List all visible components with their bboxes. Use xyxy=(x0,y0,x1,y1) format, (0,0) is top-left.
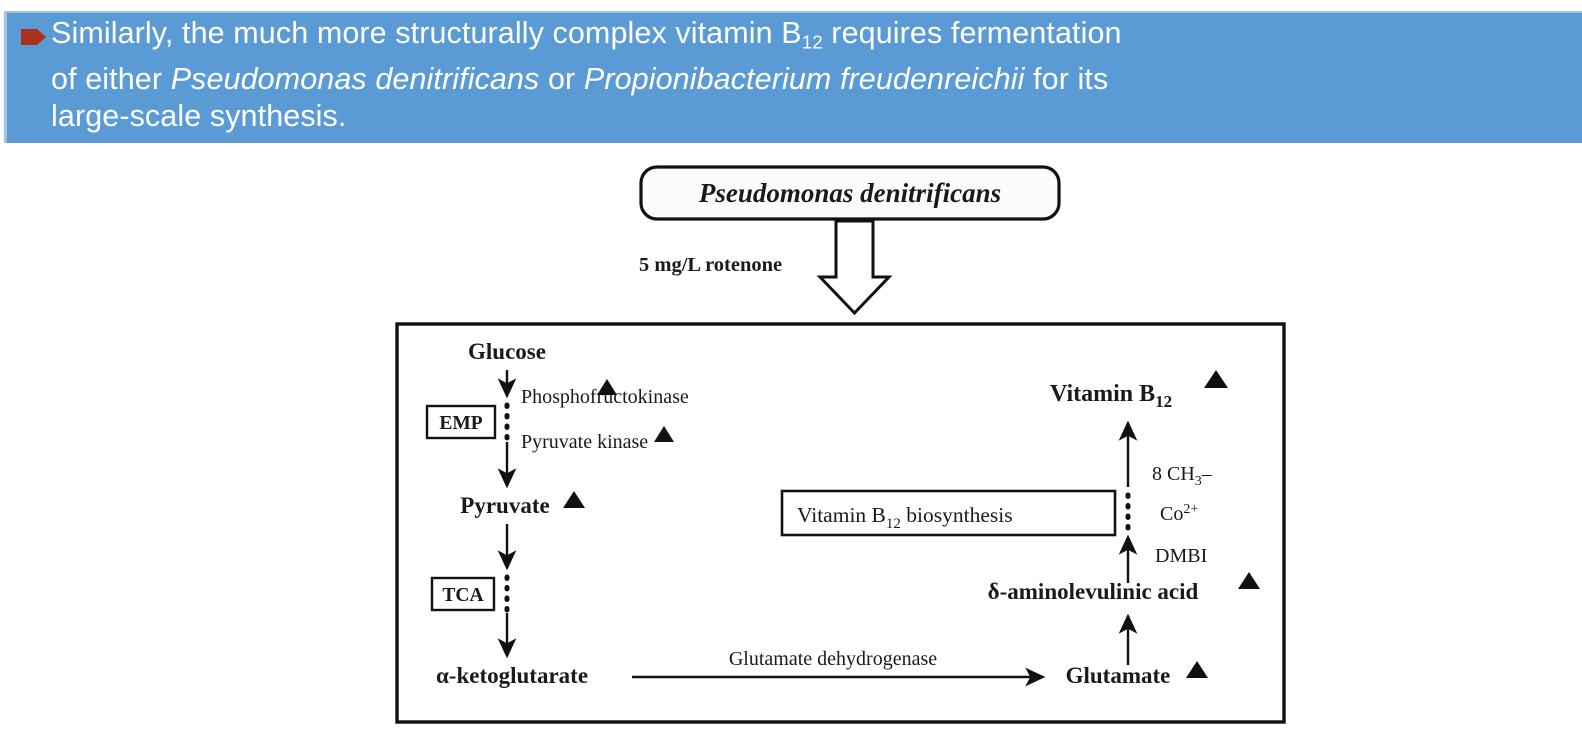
enzyme-label-glutamate-dehydrogenase: Glutamate dehydrogenase xyxy=(729,648,937,670)
banner-line1-part-b: requires fermentation xyxy=(823,16,1122,50)
node-alpha-ketoglutarate-label: α-ketoglutarate xyxy=(436,663,588,688)
organism-box-label: Pseudomonas denitrificans xyxy=(698,178,1001,208)
slide-banner: Similarly, the much more structurally co… xyxy=(4,11,1582,143)
cofactor-co-a: Co xyxy=(1160,503,1183,525)
banner-line2-part-b: or xyxy=(539,62,583,96)
banner-line2-part-a: of either xyxy=(51,62,171,96)
block-arrow-down-icon xyxy=(820,221,889,313)
banner-b12-subscript: 12 xyxy=(802,32,823,53)
banner-line-2: of either Pseudomonas denitrificans or P… xyxy=(51,61,1571,98)
cofactor-ch3-sub: 3 xyxy=(1195,474,1202,489)
banner-paragraph: Similarly, the much more structurally co… xyxy=(51,15,1571,135)
node-pyruvate-label: Pyruvate xyxy=(460,493,549,518)
banner-species-1: Pseudomonas denitrificans xyxy=(171,62,540,96)
cofactor-ch3-a: 8 CH xyxy=(1152,463,1195,485)
module-box-b12-label-sub: 12 xyxy=(886,516,901,532)
module-box-tca: TCA xyxy=(432,578,494,610)
organism-box: Pseudomonas denitrificans xyxy=(641,167,1059,219)
cofactor-co-sup: 2+ xyxy=(1183,502,1198,517)
node-glutamate-label: Glutamate xyxy=(1066,663,1171,688)
node-vitaminb12-label: Vitamin B12 xyxy=(1050,381,1172,411)
cofactor-label-dmbi: DMBI xyxy=(1155,545,1207,567)
banner-line-3: large-scale synthesis. xyxy=(51,98,1571,135)
node-vitaminb12-label-sub: 12 xyxy=(1155,392,1172,411)
arrow-bullet-icon xyxy=(21,27,47,47)
module-box-emp: EMP xyxy=(427,406,495,438)
banner-species-2: Propionibacterium freudenreichii xyxy=(584,62,1025,96)
pathway-diagram: Pseudomonas denitrificans 5 mg/L rotenon… xyxy=(0,143,1582,756)
enzyme-label-pyruvate-kinase: Pyruvate kinase xyxy=(521,431,648,453)
module-box-emp-label: EMP xyxy=(439,413,482,434)
banner-line2-part-c: for its xyxy=(1024,62,1108,96)
node-ala-label: δ-aminolevulinic acid xyxy=(988,579,1199,604)
banner-line1-part-a: Similarly, the much more structurally co… xyxy=(51,16,802,50)
module-box-b12-biosynthesis: Vitamin B12 biosynthesis xyxy=(782,491,1115,535)
banner-line-1: Similarly, the much more structurally co… xyxy=(51,15,1571,61)
node-glucose-label: Glucose xyxy=(468,339,546,364)
inducer-label: 5 mg/L rotenone xyxy=(639,254,782,276)
cofactor-ch3-b: – xyxy=(1201,463,1213,485)
module-box-b12-label-b: biosynthesis xyxy=(901,503,1013,527)
module-box-b12-label-a: Vitamin B xyxy=(797,503,886,527)
module-box-tca-label: TCA xyxy=(442,585,483,606)
node-vitaminb12-label-a: Vitamin B xyxy=(1050,381,1155,407)
